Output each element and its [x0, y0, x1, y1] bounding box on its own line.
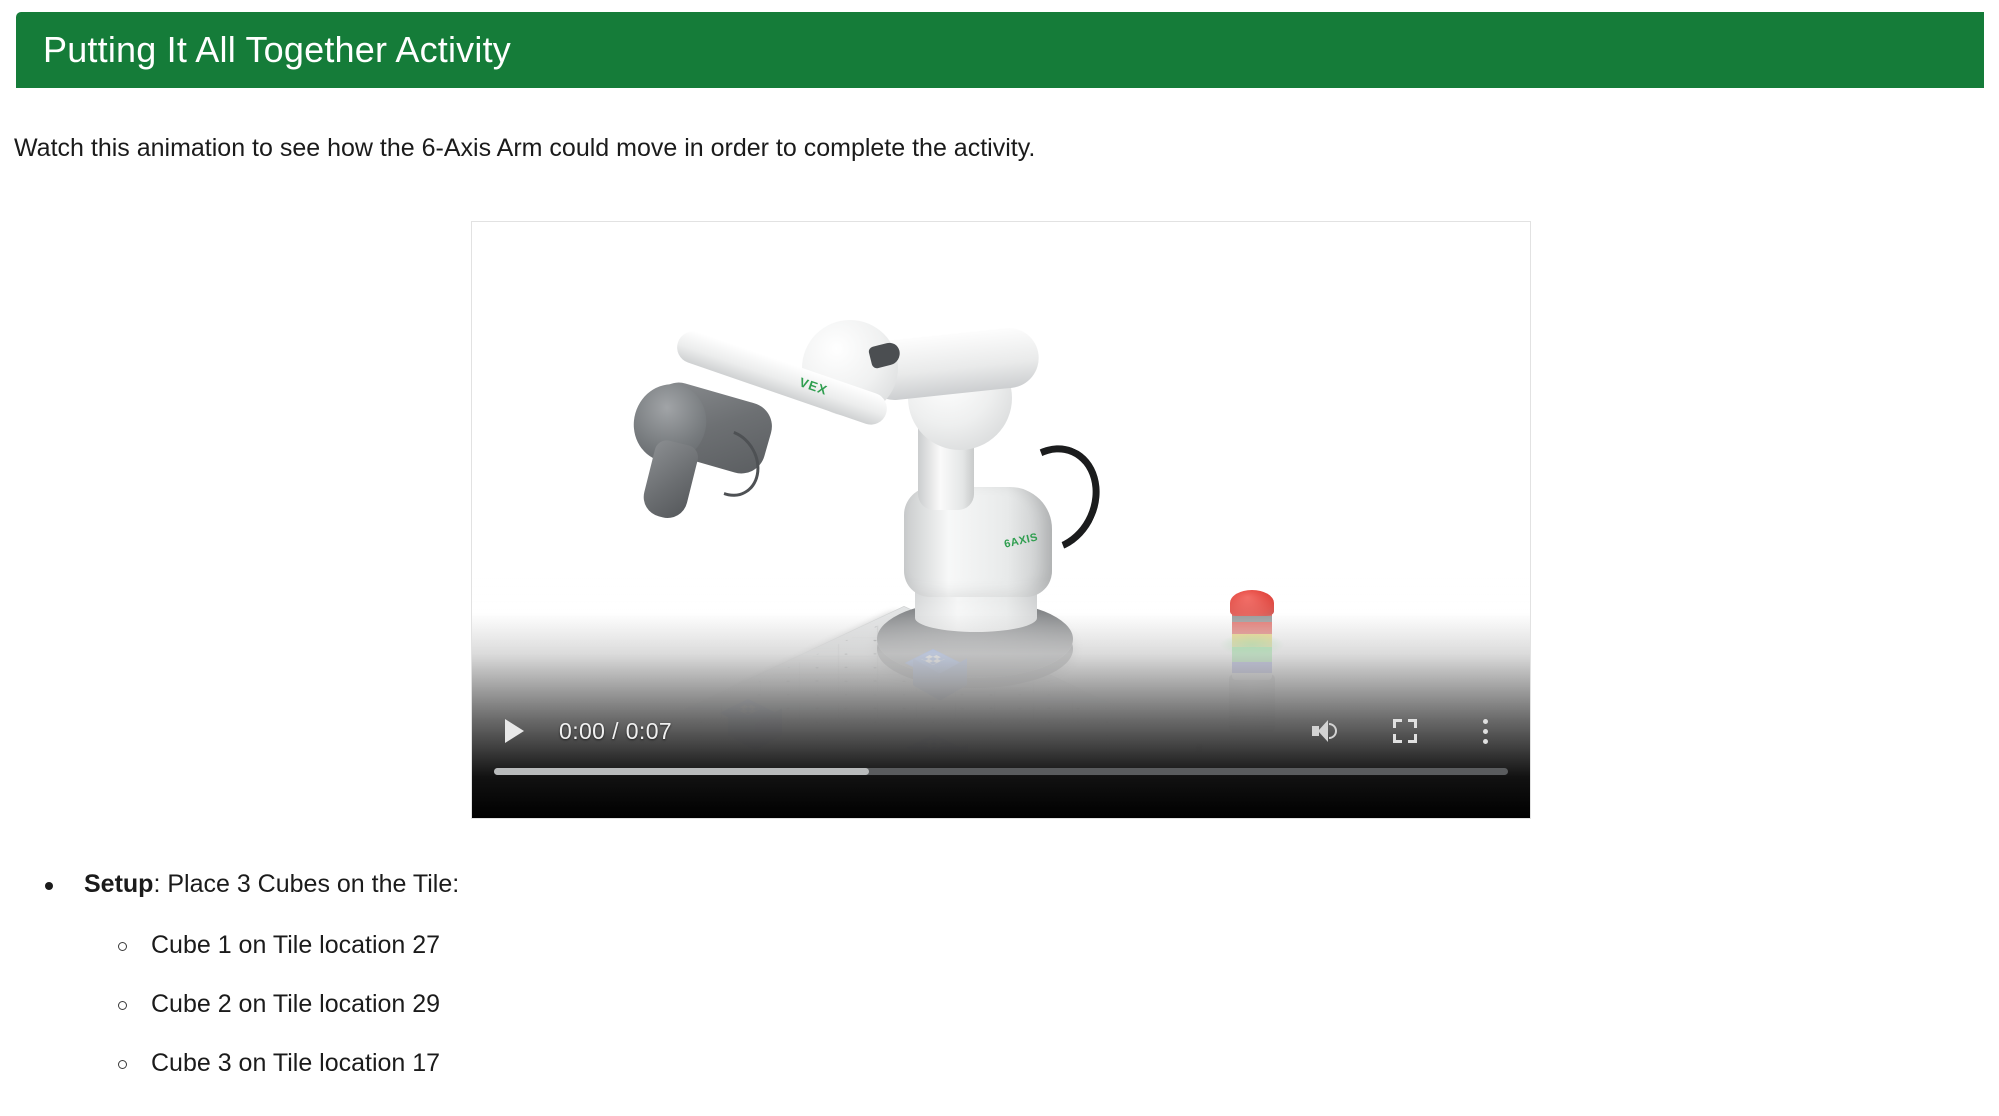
sub-bullet-icon — [118, 1060, 127, 1069]
cube-3 — [906, 637, 960, 699]
fullscreen-button[interactable] — [1382, 711, 1428, 751]
list-item-label: Cube 1 on Tile location 27 — [151, 931, 440, 959]
video-player[interactable]: 6AXIS VEX — [471, 221, 1531, 819]
setup-rest: : Place 3 Cubes on the Tile: — [153, 870, 459, 898]
tower-segment-3 — [1232, 622, 1272, 634]
tower-segment-6 — [1232, 662, 1272, 673]
time-display: 0:00 / 0:07 — [559, 718, 672, 745]
play-icon — [505, 719, 524, 743]
list-item-setup: Setup: Place 3 Cubes on the Tile: — [0, 872, 1999, 897]
list-item-label: Cube 2 on Tile location 29 — [151, 990, 440, 1018]
more-options-button[interactable] — [1462, 711, 1508, 751]
progress-buffered — [494, 768, 869, 775]
signal-tower-cable-image — [1184, 743, 1256, 818]
activity-page: Putting It All Together Activity Watch t… — [0, 0, 1999, 1116]
list-item: Cube 1 on Tile location 27 — [0, 933, 1999, 958]
arm-brand-label: VEX — [797, 374, 829, 398]
fullscreen-icon — [1393, 719, 1417, 743]
tower-segment-7 — [1232, 673, 1272, 680]
setup-instructions-list: Setup: Place 3 Cubes on the Tile: Cube 1… — [0, 872, 1999, 1110]
kebab-menu-icon — [1483, 719, 1488, 744]
list-item: Cube 3 on Tile location 17 — [0, 1051, 1999, 1076]
bullet-icon — [45, 882, 53, 890]
video-viewport[interactable]: 6AXIS VEX — [472, 222, 1530, 818]
setup-label: Setup — [84, 870, 153, 898]
intro-paragraph: Watch this animation to see how the 6-Ax… — [14, 132, 1035, 166]
progress-bar[interactable] — [494, 766, 1508, 776]
volume-icon — [1312, 720, 1338, 742]
page-header-banner: Putting It All Together Activity — [16, 12, 1984, 88]
video-controls-row: 0:00 / 0:07 — [472, 708, 1530, 754]
sub-bullet-icon — [118, 942, 127, 951]
list-item: Cube 2 on Tile location 29 — [0, 992, 1999, 1017]
volume-button[interactable] — [1302, 711, 1348, 751]
play-button[interactable] — [494, 711, 534, 751]
signal-tower-green-glow — [1220, 634, 1284, 656]
list-item-label: Cube 3 on Tile location 17 — [151, 1049, 440, 1077]
signal-tower-red-cap-image — [1230, 590, 1274, 616]
page-title: Putting It All Together Activity — [16, 32, 511, 68]
sub-bullet-icon — [118, 1001, 127, 1010]
